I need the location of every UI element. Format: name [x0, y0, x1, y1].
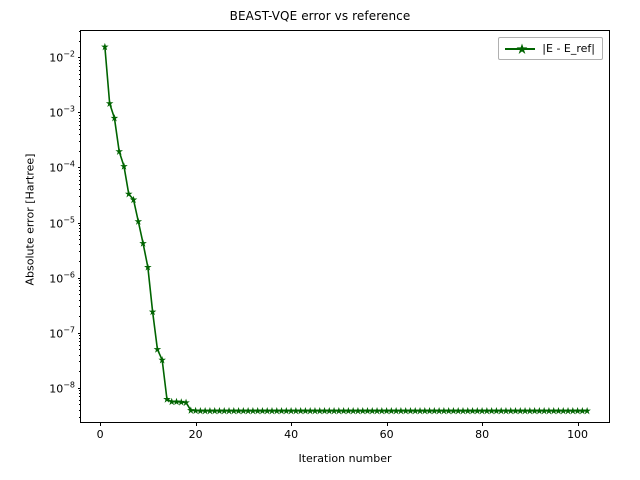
y-tick-minor: [79, 86, 81, 87]
y-tick-minor: [79, 400, 81, 401]
y-tick-minor: [79, 60, 81, 61]
x-tick-major: [291, 422, 292, 426]
y-tick-major: [78, 57, 82, 58]
y-tick-minor: [79, 141, 81, 142]
y-tick-minor: [79, 96, 81, 97]
y-tick-minor: [79, 361, 81, 362]
legend-label: |E - E_ref|: [542, 42, 595, 55]
y-tick-minor: [79, 345, 81, 346]
y-tick-minor: [79, 79, 81, 80]
chart-legend[interactable]: |E - E_ref|: [498, 37, 603, 60]
legend-marker-icon: [505, 43, 535, 55]
x-tick-label: 80: [475, 428, 489, 441]
y-tick-minor: [79, 121, 81, 122]
y-tick-minor: [79, 206, 81, 207]
y-tick-minor: [79, 184, 81, 185]
y-tick-minor: [79, 41, 81, 42]
y-tick-minor: [79, 170, 81, 171]
x-tick-major: [100, 422, 101, 426]
y-tick-minor: [79, 239, 81, 240]
y-tick-minor: [79, 306, 81, 307]
plot-axes: 10−210−310−410−510−610−710−8 02040608010…: [80, 30, 610, 423]
y-tick-major: [78, 278, 82, 279]
y-tick-minor: [79, 189, 81, 190]
y-tick-minor: [79, 118, 81, 119]
plot-area: [81, 31, 609, 422]
y-tick-minor: [79, 294, 81, 295]
y-tick-minor: [79, 404, 81, 405]
y-tick-minor: [79, 129, 81, 130]
y-tick-minor: [79, 396, 81, 397]
x-tick-label: 100: [567, 428, 588, 441]
y-tick-minor: [79, 316, 81, 317]
x-tick-label: 40: [284, 428, 298, 441]
y-tick-label: 10−6: [49, 270, 75, 285]
x-axis-label: Iteration number: [80, 452, 610, 465]
y-tick-minor: [79, 63, 81, 64]
y-tick-minor: [79, 176, 81, 177]
y-tick-minor: [79, 371, 81, 372]
y-tick-minor: [79, 66, 81, 67]
y-tick-minor: [79, 173, 81, 174]
y-tick-minor: [79, 290, 81, 291]
y-tick-major: [78, 388, 82, 389]
y-tick-minor: [79, 180, 81, 181]
y-tick-minor: [79, 196, 81, 197]
y-axis-label: Absolute error [Hartree]: [24, 105, 37, 335]
y-tick-minor: [79, 355, 81, 356]
y-tick-minor: [79, 393, 81, 394]
chart-figure: BEAST-VQE error vs reference 10−210−310−…: [0, 0, 640, 480]
x-tick-major: [196, 422, 197, 426]
y-tick-minor: [79, 280, 81, 281]
y-tick-label: 10−8: [49, 380, 75, 395]
y-tick-minor: [79, 286, 81, 287]
series-line-star: [81, 31, 611, 424]
y-tick-minor: [79, 349, 81, 350]
y-tick-major: [78, 167, 82, 168]
y-tick-minor: [79, 338, 81, 339]
y-tick-major: [78, 333, 82, 334]
y-tick-major: [78, 223, 82, 224]
x-tick-major: [482, 422, 483, 426]
y-tick-minor: [79, 115, 81, 116]
y-tick-major: [78, 112, 82, 113]
y-tick-label: 10−2: [49, 50, 75, 65]
y-tick-minor: [79, 125, 81, 126]
y-tick-minor: [79, 341, 81, 342]
x-tick-label: 60: [380, 428, 394, 441]
y-tick-minor: [79, 261, 81, 262]
y-tick-minor: [79, 335, 81, 336]
y-tick-minor: [79, 134, 81, 135]
y-tick-minor: [79, 417, 81, 418]
x-tick-major: [387, 422, 388, 426]
y-tick-minor: [79, 283, 81, 284]
x-tick-major: [578, 422, 579, 426]
y-tick-label: 10−3: [49, 105, 75, 120]
y-tick-minor: [79, 151, 81, 152]
data-point-marker: [154, 345, 162, 352]
y-tick-minor: [79, 70, 81, 71]
y-tick-minor: [79, 31, 81, 32]
y-tick-minor: [79, 74, 81, 75]
y-tick-minor: [79, 244, 81, 245]
y-tick-minor: [79, 300, 81, 301]
chart-title: BEAST-VQE error vs reference: [0, 9, 640, 23]
y-tick-minor: [79, 410, 81, 411]
y-tick-minor: [79, 235, 81, 236]
y-tick-label: 10−5: [49, 215, 75, 230]
series-line: [105, 47, 587, 411]
x-tick-label: 0: [97, 428, 104, 441]
y-tick-minor: [79, 390, 81, 391]
y-tick-minor: [79, 228, 81, 229]
star-icon: [516, 43, 528, 55]
x-tick-label: 20: [189, 428, 203, 441]
y-tick-minor: [79, 251, 81, 252]
y-tick-minor: [79, 225, 81, 226]
y-tick-minor: [79, 231, 81, 232]
y-tick-label: 10−7: [49, 325, 75, 340]
y-tick-label: 10−4: [49, 160, 75, 175]
